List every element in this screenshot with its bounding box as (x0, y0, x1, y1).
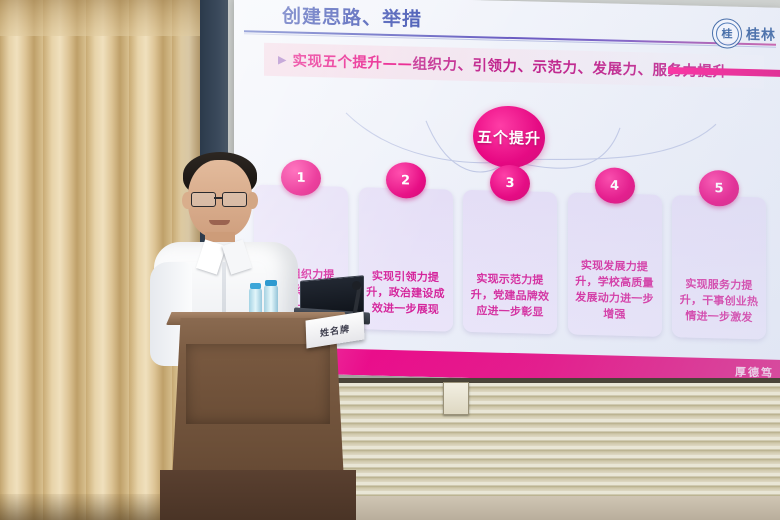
pillar-number: 4 (610, 178, 619, 193)
slide-title: 创建思路、举措 (282, 1, 422, 32)
wall-switch-plate[interactable] (443, 382, 469, 415)
hub-label: 五个提升 (477, 126, 541, 149)
seal-glyph: 桂 (722, 25, 733, 41)
university-name: 桂林 (746, 24, 776, 45)
pillar-card[interactable]: 3 实现示范力提升，党建品牌效应进一步彰显 (463, 190, 557, 334)
pillar-card[interactable]: 2 实现引领力提升，政治建设成效进一步展现 (359, 187, 453, 331)
pillar-number: 3 (505, 175, 514, 190)
pillar-text: 实现示范力提升，党建品牌效应进一步彰显 (467, 271, 553, 321)
subtitle-lead: 实现五个提升—— (292, 49, 412, 73)
eyeglasses-right-lens (222, 192, 247, 207)
eyeglasses-bridge (214, 197, 222, 199)
pillar-text: 实现引领力提升，政治建设成效进一步展现 (363, 268, 449, 318)
pillar-number-badge: 5 (699, 170, 739, 207)
triangle-bullet-icon: ▶ (278, 53, 286, 66)
nameplate-text: 姓名牌 (320, 321, 350, 339)
pillar-card[interactable]: 4 实现发展力提升，学校高质量发展动力进一步增强 (568, 192, 662, 336)
lecture-hall-scene: 创建思路、举措 桂 桂林 ▶ 实现五个提升—— 组织力、引领力、示范力、发展力、… (0, 0, 780, 520)
pillar-number: 5 (714, 181, 723, 196)
pillar-text: 实现发展力提升，学校高质量发展动力进一步增强 (572, 258, 658, 324)
university-seal-icon: 桂 (712, 18, 742, 49)
curtain-top-shadow (0, 0, 206, 36)
slide-subtitle-bar: ▶ 实现五个提升—— 组织力、引领力、示范力、发展力、服务力提升 (264, 43, 764, 89)
microphone-head-icon (352, 281, 361, 290)
water-bottle-cap (265, 280, 277, 286)
pillar-text: 实现服务力提升，干事创业热情进一步激发 (676, 276, 762, 326)
ear-right (247, 192, 258, 209)
eyeglasses-left-lens (191, 192, 216, 207)
pillar-card[interactable]: 5 实现服务力提升，干事创业热情进一步激发 (672, 195, 766, 339)
mouth (209, 220, 230, 225)
water-bottle-cap (250, 283, 261, 289)
center-hub: 五个提升 (473, 105, 545, 169)
pillar-number: 2 (401, 173, 410, 188)
university-logo: 桂 桂林 (712, 18, 776, 50)
pillar-number-badge: 3 (490, 164, 530, 201)
pillar-number-badge: 4 (595, 167, 635, 204)
pillar-number-badge: 2 (386, 162, 426, 199)
podium-front-panel (186, 344, 330, 424)
podium-base (160, 470, 356, 520)
